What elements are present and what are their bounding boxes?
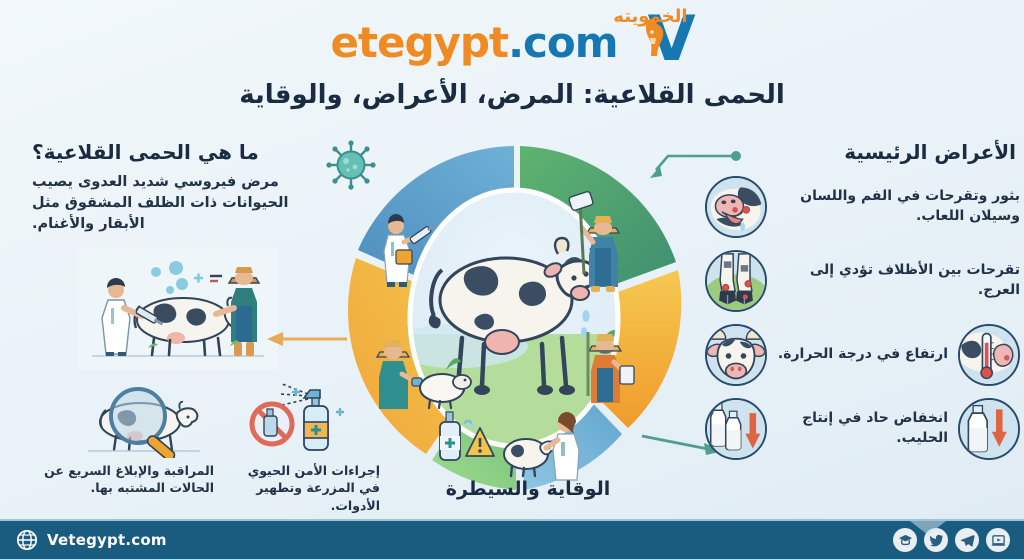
brand-logo: V etegypt.com الخمويته: [0, 8, 1024, 70]
footer-bar: Vetegypt.com: [0, 519, 1024, 559]
page-title: الحمى القلاعية: المرض، الأعراض، والوقاية: [0, 80, 1024, 110]
symptom-item: ارتفاع في درجة الحرارة.: [705, 324, 1020, 386]
symptom-text: ارتفاع في درجة الحرارة.: [777, 345, 948, 365]
thermometer-fever-icon: [958, 324, 1020, 386]
cow-mouth-ulcers-icon: [705, 176, 767, 238]
hoof-lesions-icon: [705, 250, 767, 312]
globe-icon: [16, 529, 38, 551]
milk-drop-icon: [958, 398, 1020, 460]
magnifier-over-cow-illustration: [72, 378, 222, 458]
symptom-text: تقرحات بين الأظلاف تؤدي إلى العرج.: [777, 261, 1020, 301]
what-is-body: مرض فيروسي شديد العدوى يصيب الحيوانات ذا…: [24, 172, 324, 235]
symptom-item: انخفاض حاد في إنتاج الحليب.: [705, 398, 1020, 460]
logo-word-etegypt: etegypt: [330, 18, 508, 67]
symptom-text: بثور وتقرحات في الفم واللسان وسيلان اللع…: [777, 187, 1020, 227]
cow-head-icon: [705, 324, 767, 386]
logo-wordmark: etegypt.com: [330, 18, 617, 68]
logo-word-dotcom: .com: [508, 18, 617, 67]
logo-arabic-text: الخمويته: [613, 6, 687, 27]
prevention-control-label: الوقاية والسيطرة: [398, 478, 658, 500]
symptom-item: تقرحات بين الأظلاف تؤدي إلى العرج.: [705, 250, 1020, 312]
symptom-text: انخفاض حاد في إنتاج الحليب.: [777, 409, 948, 449]
what-is-section: ما هي الحمى القلاعية؟ مرض فيروسي شديد ال…: [24, 140, 324, 235]
infographic-page: V etegypt.com الخمويته الحمى القلاعية: ا…: [0, 0, 1024, 559]
main-symptoms-section: الأعراض الرئيسية بثور وتقرحات في الفم وا…: [705, 140, 1020, 460]
symptom-item: بثور وتقرحات في الفم واللسان وسيلان اللع…: [705, 176, 1020, 238]
main-symptoms-heading: الأعراض الرئيسية: [705, 140, 1020, 164]
footer-brand[interactable]: Vetegypt.com: [16, 529, 167, 551]
caption-monitoring: المراقبة والإبلاغ السريع عن الحالات المش…: [44, 462, 214, 497]
what-is-heading: ما هي الحمى القلاعية؟: [24, 140, 324, 164]
vet-vaccinating-cow-illustration: [78, 248, 278, 370]
video-laptop-icon[interactable]: [986, 528, 1010, 552]
footer-site-name: Vetegypt.com: [47, 531, 167, 549]
footer-notch: [910, 521, 946, 535]
milk-bottles-down-icon: [705, 398, 767, 460]
telegram-plane-icon[interactable]: [955, 528, 979, 552]
